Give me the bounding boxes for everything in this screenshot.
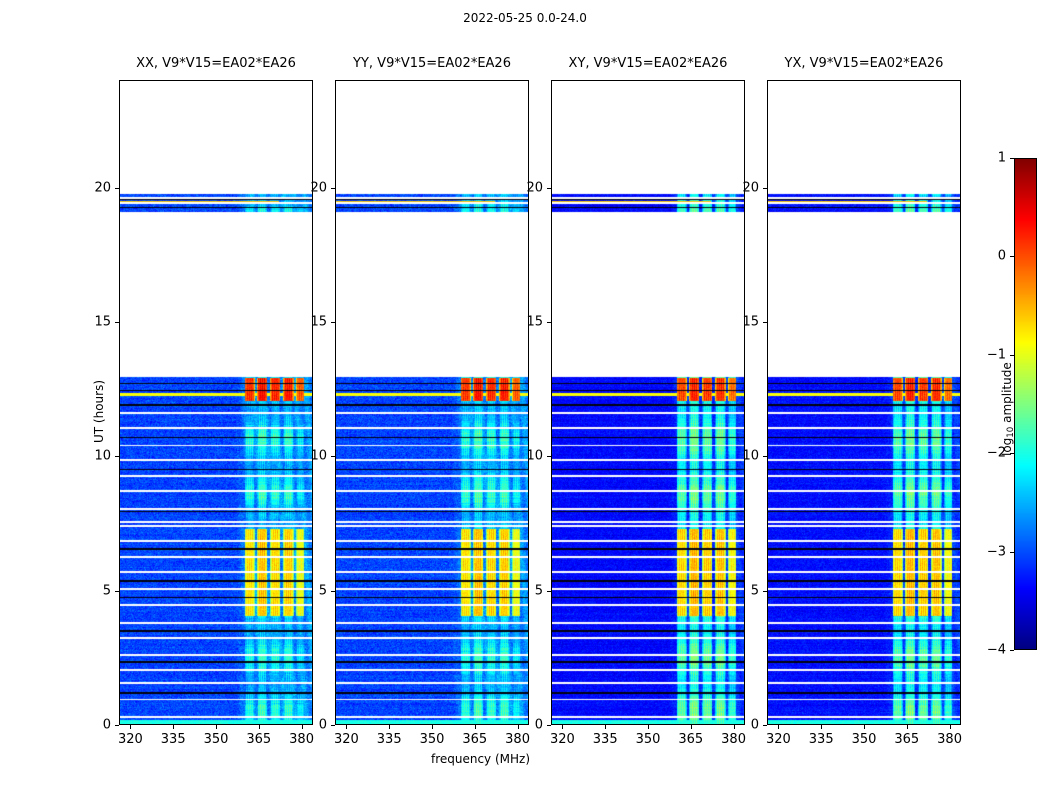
y-tick-label: 0	[505, 718, 543, 733]
x-tick	[475, 725, 476, 729]
colorbar-label-suffix: amplitude	[1000, 362, 1014, 426]
y-tick-label: 20	[289, 180, 327, 195]
waterfall-image-yx	[767, 80, 961, 725]
x-tick-label: 350	[852, 732, 877, 747]
colorbar-tick-label: −1	[970, 347, 1006, 362]
y-tick	[547, 188, 551, 189]
y-tick	[763, 725, 767, 726]
y-tick-label: 10	[73, 449, 111, 464]
colorbar-tick-label: 1	[970, 151, 1006, 166]
x-tick-label: 350	[204, 732, 229, 747]
colorbar-label: log10 amplitude	[1000, 362, 1016, 456]
y-axis-label: UT (hours)	[92, 379, 106, 442]
colorbar-tick	[1010, 158, 1014, 159]
colorbar-label-subscript: 10	[1006, 427, 1016, 438]
panel-title-xx: XX, V9*V15=EA02*EA26	[119, 56, 313, 71]
x-tick	[130, 725, 131, 729]
x-tick-label: 365	[678, 732, 703, 747]
y-tick-label: 10	[505, 449, 543, 464]
y-tick	[331, 456, 335, 457]
y-tick-label: 5	[73, 583, 111, 598]
x-tick-label: 365	[246, 732, 271, 747]
y-tick-label: 0	[289, 718, 327, 733]
x-tick-label: 350	[420, 732, 445, 747]
x-tick-label: 335	[377, 732, 402, 747]
x-tick	[173, 725, 174, 729]
waterfall-image-xy	[551, 80, 745, 725]
colorbar-tick	[1010, 256, 1014, 257]
y-tick	[547, 456, 551, 457]
y-tick	[547, 591, 551, 592]
y-tick	[331, 725, 335, 726]
x-tick	[216, 725, 217, 729]
x-tick-label: 320	[766, 732, 791, 747]
y-tick-label: 0	[73, 718, 111, 733]
y-tick	[115, 725, 119, 726]
x-tick	[778, 725, 779, 729]
y-tick	[115, 591, 119, 592]
x-tick-label: 320	[334, 732, 359, 747]
y-tick	[115, 456, 119, 457]
x-tick-label: 320	[118, 732, 143, 747]
x-tick	[691, 725, 692, 729]
waterfall-image-yy	[335, 80, 529, 725]
x-tick	[864, 725, 865, 729]
waterfall-image-xx	[119, 80, 313, 725]
x-tick-label: 335	[593, 732, 618, 747]
y-tick-label: 10	[721, 449, 759, 464]
panel-yy[interactable]: YY, V9*V15=EA02*EA26	[335, 80, 529, 725]
figure-suptitle: 2022-05-25 0.0-24.0	[0, 11, 1050, 25]
x-tick-label: 320	[550, 732, 575, 747]
y-tick-label: 20	[721, 180, 759, 195]
y-tick	[763, 188, 767, 189]
y-tick-label: 5	[289, 583, 327, 598]
colorbar-tick	[1010, 650, 1014, 651]
y-tick-label: 10	[289, 449, 327, 464]
x-tick-label: 380	[289, 732, 314, 747]
colorbar-tick-label: 0	[970, 249, 1006, 264]
y-tick	[763, 591, 767, 592]
colorbar-tick-label: −4	[970, 643, 1006, 658]
x-tick	[605, 725, 606, 729]
colorbar-gradient	[1014, 158, 1037, 650]
y-tick	[115, 322, 119, 323]
y-tick-label: 15	[721, 314, 759, 329]
figure-canvas: 2022-05-25 0.0-24.0 UT (hours) frequency…	[0, 0, 1050, 800]
x-tick-label: 365	[894, 732, 919, 747]
y-tick	[331, 188, 335, 189]
x-tick	[259, 725, 260, 729]
x-tick-label: 350	[636, 732, 661, 747]
y-tick-label: 20	[505, 180, 543, 195]
x-tick	[389, 725, 390, 729]
y-tick-label: 5	[505, 583, 543, 598]
y-tick-label: 0	[721, 718, 759, 733]
y-tick	[763, 456, 767, 457]
y-tick-label: 20	[73, 180, 111, 195]
y-tick	[115, 188, 119, 189]
x-tick	[821, 725, 822, 729]
panel-xy[interactable]: XY, V9*V15=EA02*EA26	[551, 80, 745, 725]
x-tick	[562, 725, 563, 729]
x-tick	[346, 725, 347, 729]
panel-title-yy: YY, V9*V15=EA02*EA26	[335, 56, 529, 71]
x-tick-label: 380	[721, 732, 746, 747]
y-tick	[331, 591, 335, 592]
y-tick-label: 15	[505, 314, 543, 329]
x-tick	[432, 725, 433, 729]
panel-xx[interactable]: XX, V9*V15=EA02*EA26	[119, 80, 313, 725]
x-tick-label: 365	[462, 732, 487, 747]
x-tick-label: 380	[937, 732, 962, 747]
y-tick-label: 5	[721, 583, 759, 598]
panel-title-xy: XY, V9*V15=EA02*EA26	[551, 56, 745, 71]
x-tick-label: 380	[505, 732, 530, 747]
panel-title-yx: YX, V9*V15=EA02*EA26	[767, 56, 961, 71]
colorbar-tick	[1010, 355, 1014, 356]
colorbar-tick	[1010, 552, 1014, 553]
y-tick	[547, 725, 551, 726]
x-axis-label: frequency (MHz)	[0, 752, 961, 766]
panel-yx[interactable]: YX, V9*V15=EA02*EA26	[767, 80, 961, 725]
colorbar-tick-label: −3	[970, 544, 1006, 559]
x-tick-label: 335	[809, 732, 834, 747]
x-tick	[950, 725, 951, 729]
y-tick	[763, 322, 767, 323]
x-tick	[648, 725, 649, 729]
y-tick	[331, 322, 335, 323]
x-tick-label: 335	[161, 732, 186, 747]
x-tick	[907, 725, 908, 729]
y-tick	[547, 322, 551, 323]
colorbar-label-prefix: log	[1000, 438, 1014, 456]
y-tick-label: 15	[289, 314, 327, 329]
y-tick-label: 15	[73, 314, 111, 329]
colorbar[interactable]	[1014, 158, 1037, 650]
